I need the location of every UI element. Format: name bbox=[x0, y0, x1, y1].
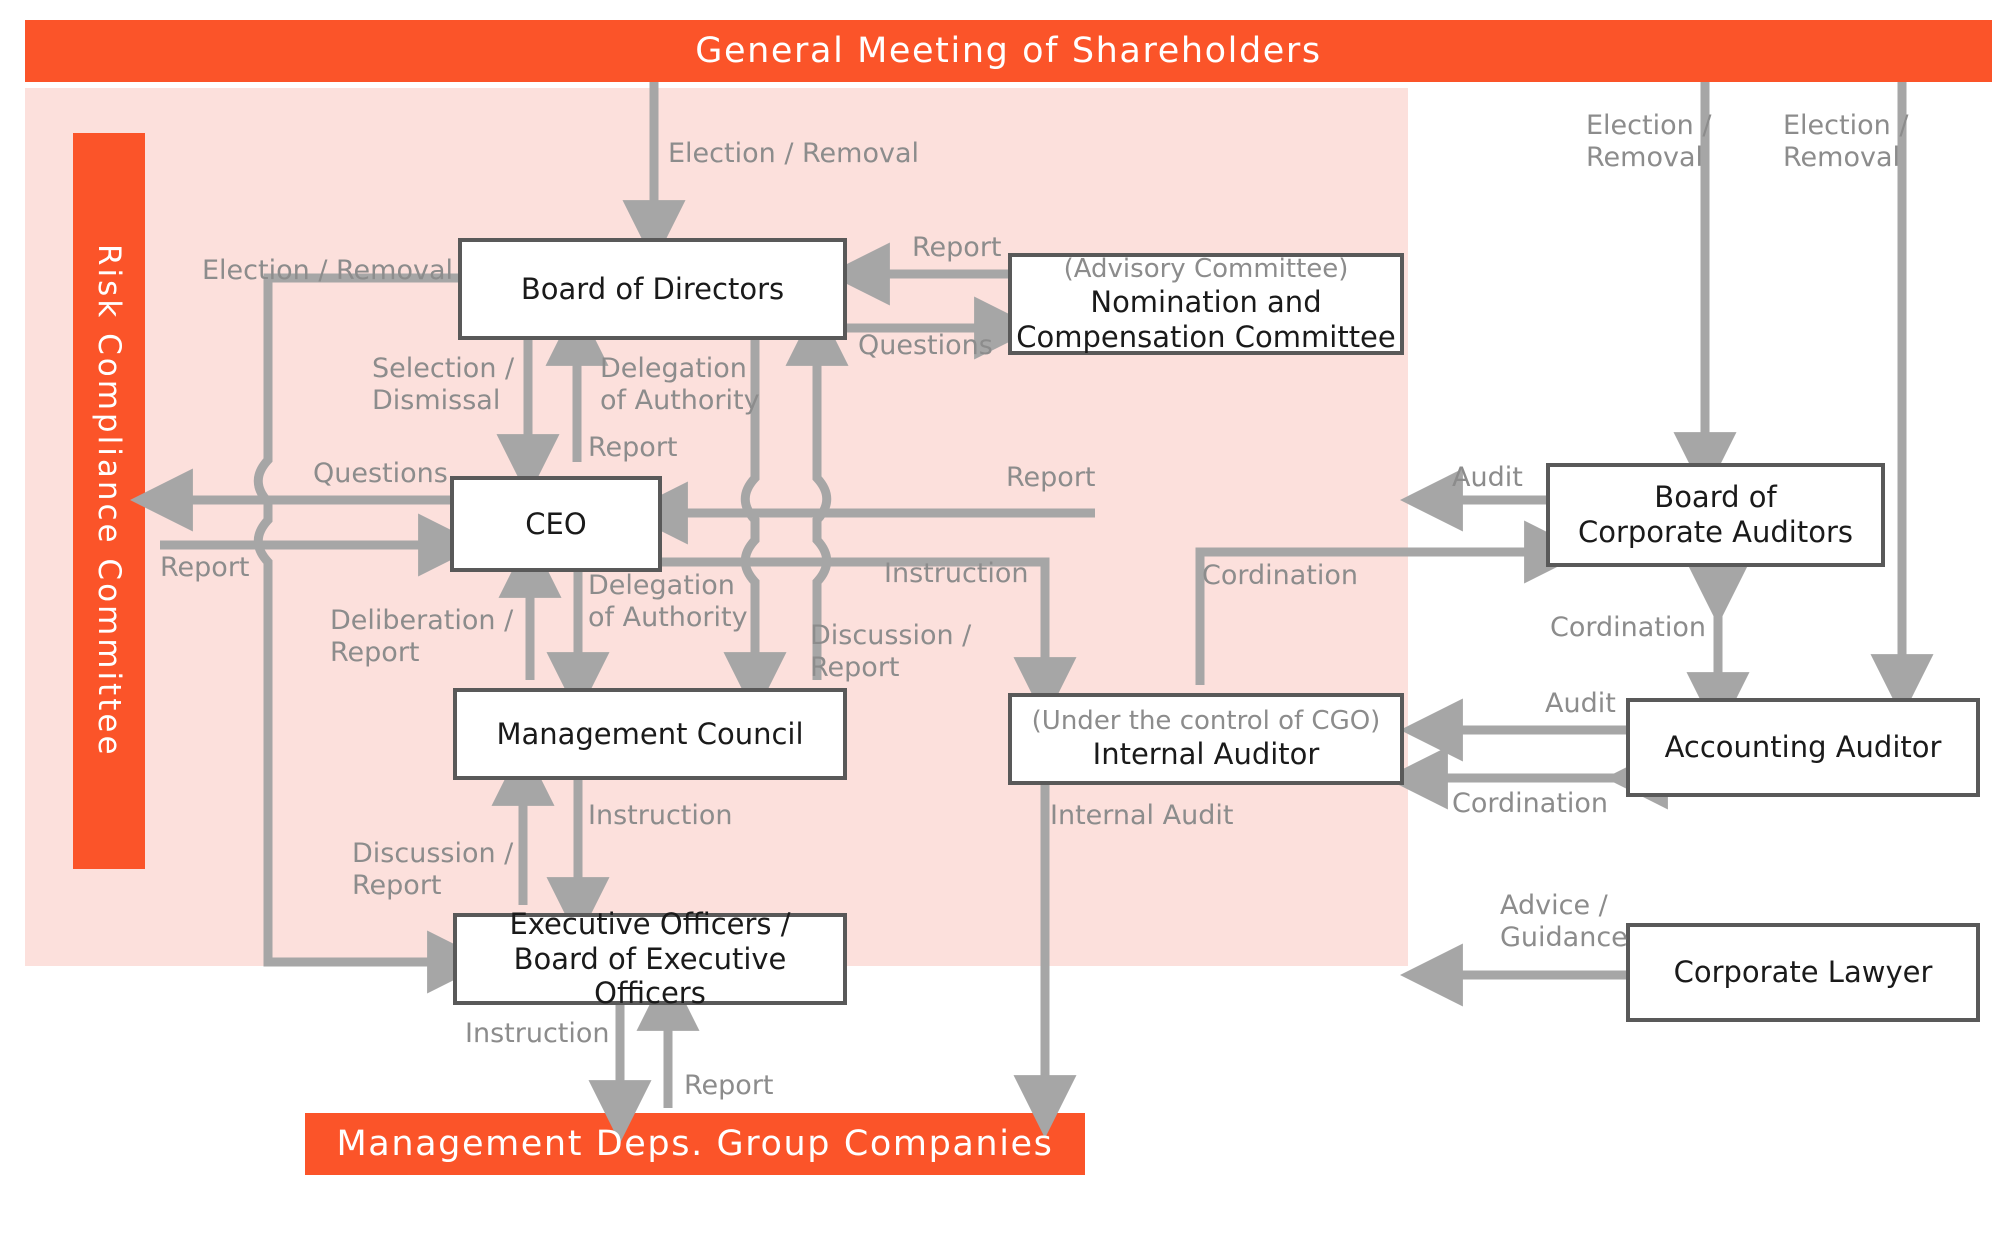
node-title-executive-officers: Executive Officers / Board of Executive … bbox=[455, 907, 845, 1011]
management-deps-banner-label: Management Deps. Group Companies bbox=[305, 1113, 1085, 1175]
node-label-board-of-corporate-auditors: Board of Corporate Auditors bbox=[1548, 465, 1883, 565]
node-subtitle-internal-auditor: (Under the control of CGO) bbox=[1032, 706, 1381, 737]
node-label-accounting-auditor: Accounting Auditor bbox=[1628, 700, 1978, 795]
node-title-nomination-committee: Nomination and Compensation Committee bbox=[1016, 285, 1396, 355]
node-title-board-of-corporate-auditors: Board of Corporate Auditors bbox=[1578, 480, 1853, 550]
node-label-ceo: CEO bbox=[452, 478, 660, 570]
pink-governance-panel bbox=[25, 88, 1408, 966]
node-title-management-council: Management Council bbox=[496, 717, 803, 752]
node-label-nomination-and-compensation-committee: (Advisory Committee) Nomination and Comp… bbox=[1010, 255, 1402, 353]
node-label-board-of-directors: Board of Directors bbox=[460, 240, 845, 338]
node-label-executive-officers: Executive Officers / Board of Executive … bbox=[455, 915, 845, 1003]
node-title-board-of-directors: Board of Directors bbox=[521, 272, 784, 307]
risk-compliance-banner-label: Risk Compliance Committee bbox=[73, 133, 145, 869]
node-label-internal-auditor: (Under the control of CGO) Internal Audi… bbox=[1010, 695, 1402, 783]
node-title-accounting-auditor: Accounting Auditor bbox=[1665, 730, 1942, 765]
governance-diagram: General Meeting of Shareholders Risk Com… bbox=[0, 0, 2000, 1252]
diagram-canvas bbox=[0, 0, 2000, 1252]
node-label-corporate-lawyer: Corporate Lawyer bbox=[1628, 925, 1978, 1020]
node-title-corporate-lawyer: Corporate Lawyer bbox=[1674, 955, 1933, 990]
shareholders-banner-label: General Meeting of Shareholders bbox=[25, 20, 1992, 82]
node-label-management-council: Management Council bbox=[455, 690, 845, 778]
node-title-ceo: CEO bbox=[525, 507, 586, 542]
node-title-internal-auditor: Internal Auditor bbox=[1093, 737, 1320, 772]
node-subtitle-nomination-committee: (Advisory Committee) bbox=[1064, 254, 1349, 285]
